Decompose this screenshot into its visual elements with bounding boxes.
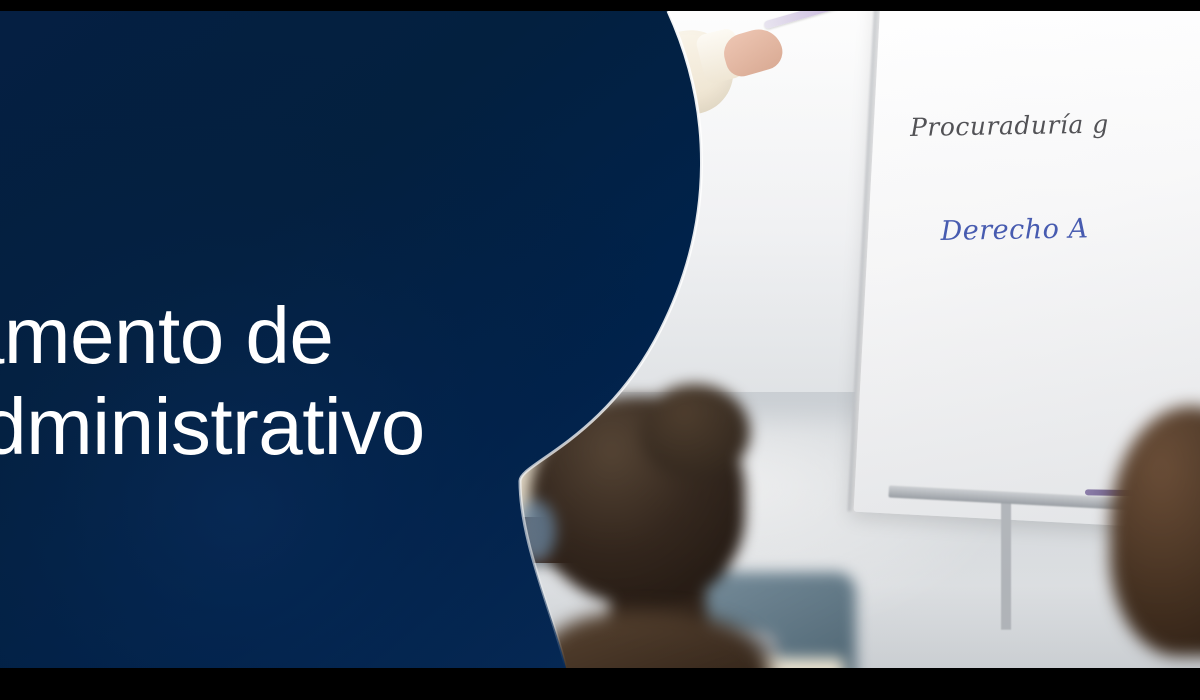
banner-screenshot: Procuraduría g Derecho A bbox=[0, 0, 1200, 700]
letterbox-top bbox=[0, 0, 1200, 11]
audience-member-right bbox=[1110, 406, 1200, 668]
page-title-line-2: o Administrativo bbox=[0, 381, 628, 472]
page-title-line-1: artamento de bbox=[0, 290, 628, 381]
audience-head bbox=[1110, 406, 1200, 656]
hero-banner: Procuraduría g Derecho A bbox=[0, 11, 1200, 668]
flipchart-leg bbox=[1001, 500, 1011, 630]
flipchart-line-dark: Procuraduría g bbox=[910, 110, 1109, 142]
letterbox-bottom bbox=[0, 668, 1200, 700]
page-title: artamento de o Administrativo bbox=[0, 290, 628, 472]
flipchart-line-blue: Derecho A bbox=[940, 213, 1088, 247]
